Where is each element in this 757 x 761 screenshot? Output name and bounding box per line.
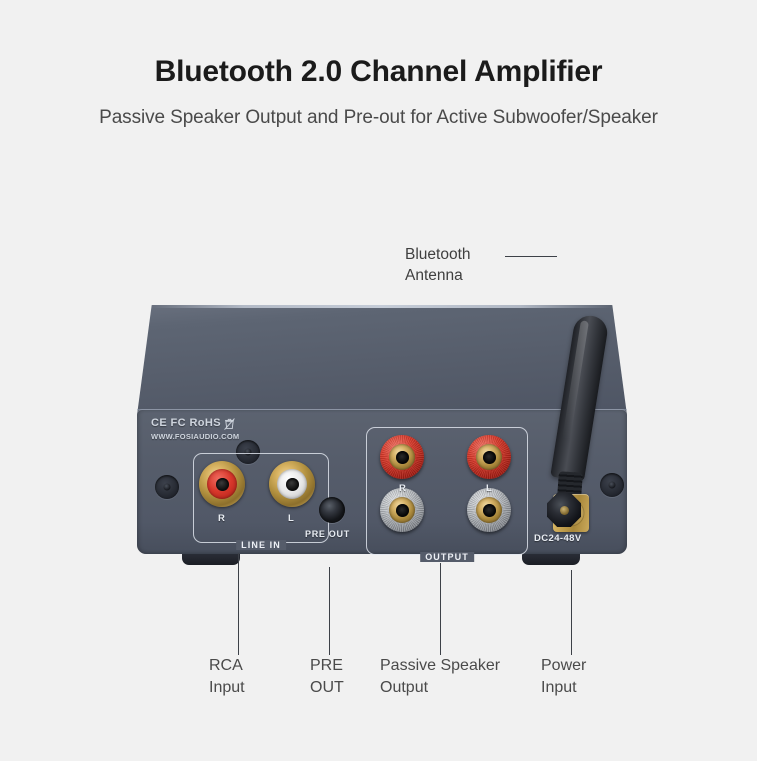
- binding-post-right-positive[interactable]: [380, 435, 424, 479]
- certification-text: CE FC RoHS: [151, 417, 221, 431]
- rca-insulator-red: [207, 469, 237, 499]
- power-voltage-label: DC24-48V: [534, 533, 582, 544]
- bluetooth-antenna[interactable]: [536, 314, 616, 529]
- binding-post-hole: [396, 504, 409, 517]
- callout-rca-input: RCA Input: [209, 655, 245, 698]
- amplifier-device: CE FC RoHS WWW.FOSIAUDIO.COM: [137, 305, 627, 565]
- certification-marks: CE FC RoHS: [151, 417, 239, 431]
- line-in-group-label: LINE IN: [236, 540, 286, 550]
- power-leader-line: [571, 570, 572, 655]
- manufacturer-website: WWW.FOSIAUDIO.COM: [151, 432, 239, 441]
- callout-pre-out: PRE OUT: [310, 655, 344, 698]
- callout-bluetooth-antenna: Bluetooth Antenna: [405, 245, 471, 287]
- binding-post-collar: [389, 497, 415, 523]
- page-subtitle: Passive Speaker Output and Pre-out for A…: [0, 107, 757, 129]
- binding-post-collar: [476, 444, 502, 470]
- line-in-left-label: L: [288, 513, 294, 524]
- binding-post-left-negative[interactable]: [467, 488, 511, 532]
- output-left-label: L: [486, 483, 492, 494]
- infographic-canvas: Bluetooth 2.0 Channel Amplifier Passive …: [0, 0, 757, 761]
- speaker-leader-line: [440, 563, 441, 655]
- binding-post-hole: [483, 504, 496, 517]
- binding-post-left-positive[interactable]: [467, 435, 511, 479]
- crossed-out-wheelie-bin-icon: [224, 418, 235, 430]
- line-in-right-label: R: [218, 513, 225, 524]
- output-right-label: R: [399, 483, 406, 494]
- output-group-label: OUTPUT: [420, 552, 474, 562]
- pre-out-jack[interactable]: [319, 497, 345, 523]
- antenna-leader-line: [505, 256, 557, 257]
- dc-jack-center-pin: [560, 506, 569, 515]
- page-title: Bluetooth 2.0 Channel Amplifier: [0, 55, 757, 89]
- panel-screw-left: [155, 475, 179, 499]
- callout-power-input: Power Input: [541, 655, 586, 698]
- rca-leader-line: [238, 553, 239, 655]
- binding-post-collar: [389, 444, 415, 470]
- rear-panel-face: CE FC RoHS WWW.FOSIAUDIO.COM: [137, 409, 627, 554]
- silkscreen-block: CE FC RoHS WWW.FOSIAUDIO.COM: [151, 417, 239, 441]
- rca-socket-hole: [286, 478, 299, 491]
- pre-out-label: PRE OUT: [305, 529, 350, 539]
- binding-post-collar: [476, 497, 502, 523]
- binding-post-hole: [483, 451, 496, 464]
- rca-jack-left[interactable]: [269, 461, 315, 507]
- antenna-rod: [550, 313, 609, 481]
- rca-jack-right[interactable]: [199, 461, 245, 507]
- preout-leader-line: [329, 567, 330, 655]
- rca-insulator-white: [277, 469, 307, 499]
- rca-socket-hole: [216, 478, 229, 491]
- binding-post-right-negative[interactable]: [380, 488, 424, 532]
- callout-passive-speaker-output: Passive Speaker Output: [380, 655, 500, 698]
- binding-post-hole: [396, 451, 409, 464]
